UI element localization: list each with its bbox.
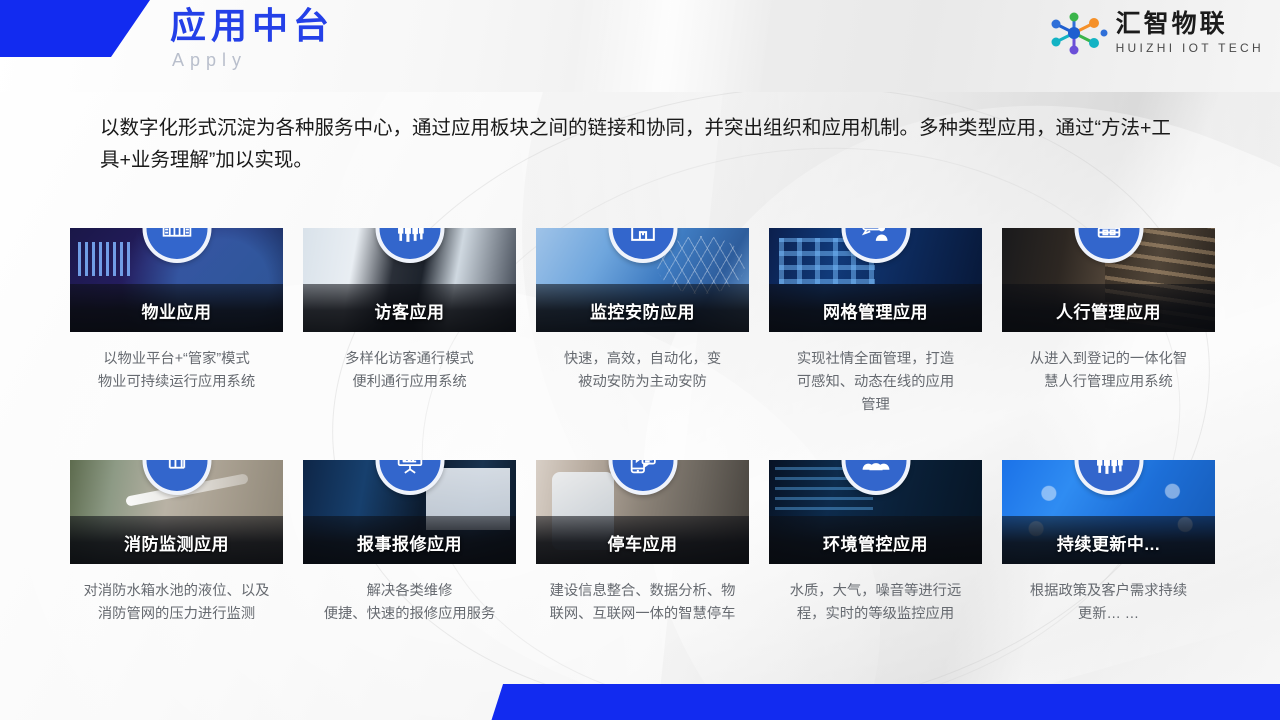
card-thumbnail[interactable]: 环境管控应用 [769, 460, 982, 564]
application-card[interactable]: 网格管理应用实现社情全面管理，打造可感知、动态在线的应用管理 [769, 228, 982, 417]
logo-name-zh: 汇智物联 [1116, 12, 1264, 37]
brand-logo: 汇智物联 HUIZHI IOT TECH [1044, 10, 1264, 56]
card-thumbnail[interactable]: 报事报修应用 [303, 460, 516, 564]
logo-name-en: HUIZHI IOT TECH [1116, 42, 1264, 54]
card-description: 多样化访客通行模式便利通行应用系统 [303, 348, 516, 394]
card-description: 实现社情全面管理，打造可感知、动态在线的应用管理 [769, 348, 982, 417]
page-subtitle: Apply [172, 50, 247, 71]
application-card[interactable]: 环境管控应用水质，大气，噪音等进行远程，实时的等级监控应用 [769, 460, 982, 626]
application-card[interactable]: 物业应用以物业平台+“管家”模式物业可持续运行应用系统 [70, 228, 283, 394]
application-card-grid: 物业应用以物业平台+“管家”模式物业可持续运行应用系统访客应用多样化访客通行模式… [70, 228, 1215, 692]
network-dots-logo-icon [1044, 10, 1108, 56]
card-description: 解决各类维修便捷、快速的报修应用服务 [303, 580, 516, 626]
application-card[interactable]: 停车应用建设信息整合、数据分析、物联网、互联网一体的智慧停车 [536, 460, 749, 626]
card-thumbnail[interactable]: 持续更新中... [1002, 460, 1215, 564]
card-title: 停车应用 [536, 530, 749, 555]
card-description: 对消防水箱水池的液位、以及消防管网的压力进行监测 [70, 580, 283, 626]
slide-root: 应用中台 Apply [0, 0, 1280, 720]
card-description: 快速，高效，自动化，变被动安防为主动安防 [536, 348, 749, 394]
card-title: 物业应用 [70, 298, 283, 323]
application-card[interactable]: 消防监测应用对消防水箱水池的液位、以及消防管网的压力进行监测 [70, 460, 283, 626]
card-title: 持续更新中... [1002, 530, 1215, 555]
card-title: 环境管控应用 [769, 530, 982, 555]
card-description: 水质，大气，噪音等进行远程，实时的等级监控应用 [769, 580, 982, 626]
card-description: 根据政策及客户需求持续更新… … [1002, 580, 1215, 626]
page-header: 应用中台 Apply [0, 0, 1280, 92]
card-thumbnail[interactable]: 人行管理应用 [1002, 228, 1215, 332]
card-thumbnail[interactable]: 监控安防应用 [536, 228, 749, 332]
card-row: 消防监测应用对消防水箱水池的液位、以及消防管网的压力进行监测报事报修应用解决各类… [70, 460, 1215, 692]
card-thumbnail[interactable]: 物业应用 [70, 228, 283, 332]
application-card[interactable]: 访客应用多样化访客通行模式便利通行应用系统 [303, 228, 516, 394]
application-card[interactable]: 监控安防应用快速，高效，自动化，变被动安防为主动安防 [536, 228, 749, 394]
card-description: 以物业平台+“管家”模式物业可持续运行应用系统 [70, 348, 283, 394]
card-description: 从进入到登记的一体化智慧人行管理应用系统 [1002, 348, 1215, 394]
card-thumbnail[interactable]: 停车应用 [536, 460, 749, 564]
application-card[interactable]: 人行管理应用从进入到登记的一体化智慧人行管理应用系统 [1002, 228, 1215, 394]
page-title: 应用中台 [170, 4, 334, 48]
card-row: 物业应用以物业平台+“管家”模式物业可持续运行应用系统访客应用多样化访客通行模式… [70, 228, 1215, 460]
intro-paragraph: 以数字化形式沉淀为各种服务中心，通过应用板块之间的链接和协同，并突出组织和应用机… [100, 112, 1175, 176]
application-card[interactable]: 持续更新中...根据政策及客户需求持续更新… … [1002, 460, 1215, 626]
card-title: 网格管理应用 [769, 298, 982, 323]
card-title: 报事报修应用 [303, 530, 516, 555]
card-title: 监控安防应用 [536, 298, 749, 323]
card-title: 访客应用 [303, 298, 516, 323]
card-thumbnail[interactable]: 消防监测应用 [70, 460, 283, 564]
card-title: 人行管理应用 [1002, 298, 1215, 323]
card-title: 消防监测应用 [70, 530, 283, 555]
card-thumbnail[interactable]: 网格管理应用 [769, 228, 982, 332]
card-thumbnail[interactable]: 访客应用 [303, 228, 516, 332]
card-description: 建设信息整合、数据分析、物联网、互联网一体的智慧停车 [536, 580, 749, 626]
application-card[interactable]: 报事报修应用解决各类维修便捷、快速的报修应用服务 [303, 460, 516, 626]
